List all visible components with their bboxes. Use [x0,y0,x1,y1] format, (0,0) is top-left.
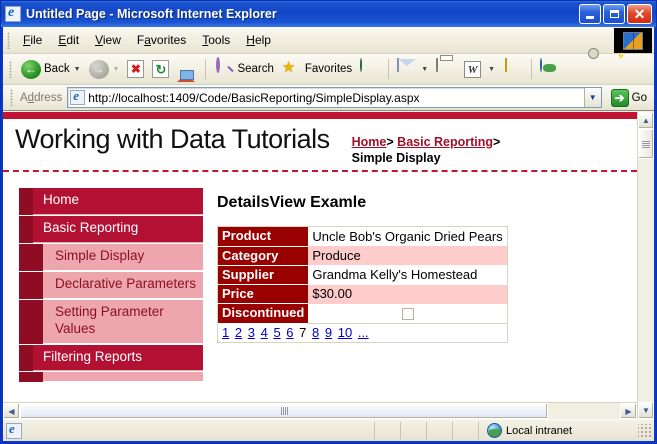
scroll-right-button[interactable]: ▶ [620,403,637,419]
edit-word-button[interactable]: W ▼ [460,57,499,82]
pager-link-2[interactable]: 2 [235,325,242,340]
nav-accent-strip [19,300,43,344]
address-input[interactable]: http://localhost:1409/Code/BasicReportin… [88,91,583,105]
row-value-price: $30.00 [308,285,507,304]
qr-button[interactable] [620,57,648,82]
address-label: Address [20,92,62,104]
toolbar-separator [205,59,206,79]
pager-link-4[interactable]: 4 [261,325,268,340]
close-button[interactable]: ✕ [627,4,652,24]
sidebar-item-label [43,372,203,382]
pager-link-8[interactable]: 8 [312,325,319,340]
table-row: Supplier Grandma Kelly's Homestead [218,265,508,284]
horizontal-scroll-track[interactable] [20,403,620,419]
sidebar-item-label: Filtering Reports [33,345,203,372]
address-dropdown-button[interactable]: ▼ [584,88,601,107]
row-value-supplier: Grandma Kelly's Homestead [308,265,507,284]
nav-accent-strip [19,216,33,243]
pager-link-6[interactable]: 6 [286,325,293,340]
globe-button[interactable] [536,57,564,82]
sidebar-item-label: Setting Parameter Values [43,300,203,344]
qr-icon [624,59,644,79]
table-row: Product Uncle Bob's Organic Dried Pears [218,227,508,246]
forward-dropdown-icon[interactable]: ▼ [113,66,120,73]
home-button[interactable] [173,57,201,82]
menu-file-label: ile [30,33,42,47]
row-label-product: Product [218,227,309,246]
security-zone-label: Local intranet [506,425,572,437]
status-pane-4 [452,422,478,440]
table-row: Discontinued [218,304,508,323]
sidebar-item-next-partial[interactable] [19,372,203,382]
breadcrumb: Home> Basic Reporting> Simple Display [352,135,501,166]
menu-help[interactable]: Help [238,30,279,50]
ie-page-icon [5,6,21,22]
breadcrumb-current: Simple Display [352,151,501,167]
back-button-label: Back [44,63,70,75]
forward-arrow-icon: → [89,60,109,79]
toolbar-separator-2 [388,59,389,79]
ie-page-icon-address [70,90,85,105]
breadcrumb-link-home[interactable]: Home [352,135,387,149]
favorites-star-icon: ★ [282,59,302,79]
stop-button[interactable]: ✖ [123,57,148,82]
nav-accent-strip [19,345,33,372]
toolbar-separator-3 [531,59,532,79]
address-bar: Address http://localhost:1409/Code/Basic… [3,85,654,111]
window-client-area: File Edit View Favorites Tools Help ← Ba… [1,27,656,443]
go-arrow-icon: ➔ [611,89,629,107]
windows-flag-icon [623,32,643,50]
status-pane-3 [426,422,452,440]
pager-current-page: 7 [299,325,306,340]
menu-bar: File Edit View Favorites Tools Help [3,27,654,54]
print-icon [436,59,456,79]
forward-button[interactable]: → ▼ [85,57,124,82]
row-label-supplier: Supplier [218,265,309,284]
pager-link-more[interactable]: ... [358,325,369,340]
browser-toolbar: ← Back ▼ → ▼ ✖ ↻ Search ★ [3,54,654,85]
home-icon [177,59,197,79]
media-icon [360,59,380,79]
minimize-button[interactable] [579,4,601,24]
menu-edit[interactable]: Edit [50,30,87,50]
menu-gripper[interactable] [7,32,10,49]
maximize-button[interactable] [603,4,625,24]
scroll-down-button[interactable]: ▼ [638,402,654,419]
pager-link-3[interactable]: 3 [248,325,255,340]
breadcrumb-separator-1: > [386,135,393,149]
sidebar-item-label: Basic Reporting [33,216,203,243]
sidebar-nav: Home Basic Reporting Simple Display [3,188,203,383]
table-row: Category Produce [218,246,508,265]
row-value-discontinued [308,304,507,323]
stop-icon: ✖ [127,60,144,78]
scroll-up-button[interactable]: ▲ [638,112,654,129]
refresh-button[interactable]: ↻ [148,57,173,82]
table-row: Price $30.00 [218,285,508,304]
mail-icon [397,59,417,79]
globe-icon [487,423,502,438]
edit-word-icon: W [464,59,484,79]
sidebar-item-filtering-reports[interactable]: Filtering Reports [19,345,203,372]
page-viewport: Working with Data Tutorials Home> Basic … [3,111,654,419]
sidebar-item-declarative-parameters[interactable]: Declarative Parameters [19,272,203,299]
scroll-grip-icon [281,407,288,415]
pager-cell: 1 2 3 4 5 6 7 8 9 [218,323,508,342]
content-heading: DetailsView Examle [217,194,627,212]
notes-button[interactable] [499,57,527,82]
status-pane-2 [400,422,426,440]
web-page: Working with Data Tutorials Home> Basic … [3,112,637,419]
scroll-left-button[interactable]: ◀ [3,403,20,419]
pager-link-1[interactable]: 1 [222,325,229,340]
nav-accent-strip [19,272,43,299]
media-button[interactable] [356,57,384,82]
toolbar-gripper[interactable] [9,61,12,78]
vertical-scrollbar[interactable]: ▲ ▼ [637,112,654,419]
search-button-label: Search [237,63,273,75]
close-icon: ✕ [634,8,646,20]
window-controls: ✕ [579,4,652,24]
ie-page-icon-status [6,423,22,439]
scroll-grip-icon [642,141,650,148]
nav-accent-strip [19,188,33,215]
nav-accent-strip [19,372,43,382]
menu-favorites[interactable]: Favorites [129,30,194,50]
status-bar: Local intranet [3,419,654,441]
vertical-scroll-thumb[interactable] [638,129,654,159]
window-title: Untitled Page - Microsoft Internet Explo… [26,7,579,21]
vertical-scroll-track[interactable] [638,129,654,402]
horizontal-scroll-thumb[interactable] [20,403,548,419]
security-zone[interactable]: Local intranet [478,422,638,440]
breadcrumb-link-basic-reporting[interactable]: Basic Reporting [397,135,493,149]
search-button[interactable]: Search [210,57,277,82]
address-gripper[interactable] [10,89,13,106]
favorites-button-label: Favorites [305,63,352,75]
mail-button[interactable]: ▼ [393,57,432,82]
pager-link-5[interactable]: 5 [273,325,280,340]
maximize-icon [610,10,619,18]
refresh-icon: ↻ [152,60,169,78]
firefox-icon [568,59,588,79]
sidebar-item-label: Declarative Parameters [43,272,203,299]
pager-link-10[interactable]: 10 [338,325,352,340]
address-input-wrapper[interactable]: http://localhost:1409/Code/BasicReportin… [67,87,601,108]
status-pane-1 [374,422,400,440]
firefox-button[interactable] [564,57,592,82]
page-title: Working with Data Tutorials [15,125,330,153]
main-content: DetailsView Examle Product Uncle Bob's O… [203,188,637,383]
nav-accent-strip [19,244,43,271]
sidebar-item-basic-reporting[interactable]: Basic Reporting [19,216,203,243]
menu-tools[interactable]: Tools [194,30,238,50]
minimize-icon [586,16,594,19]
table-pager-row: 1 2 3 4 5 6 7 8 9 [218,323,508,342]
row-value-category: Produce [308,246,507,265]
search-icon [214,59,234,79]
go-button[interactable]: ➔ Go [607,88,651,108]
favorites-button[interactable]: ★ Favorites [278,57,356,82]
page-top-accent-bar [3,112,637,119]
sidebar-item-label: Home [33,188,203,215]
go-button-label: Go [632,92,647,104]
notes-icon [503,59,523,79]
row-label-discontinued: Discontinued [218,304,309,323]
ie-brand-logo [614,28,652,53]
horizontal-scrollbar[interactable]: ◀ ▶ [3,402,637,419]
sidebar-item-label: Simple Display [43,244,203,271]
breadcrumb-separator-2: > [493,135,500,149]
row-label-category: Category [218,246,309,265]
menu-file[interactable]: File [15,30,50,50]
page-body: Home Basic Reporting Simple Display [3,172,637,383]
row-label-price: Price [218,285,309,304]
details-view-table: Product Uncle Bob's Organic Dried Pears … [217,226,508,343]
title-bar: Untitled Page - Microsoft Internet Explo… [1,1,656,27]
globe-icon [540,59,560,79]
messenger-icon [596,59,616,79]
sidebar-item-simple-display[interactable]: Simple Display [19,244,203,271]
discontinued-checkbox [402,308,414,320]
back-arrow-icon: ← [21,60,41,79]
back-dropdown-icon[interactable]: ▼ [74,66,81,73]
resize-grip-icon[interactable] [638,424,652,438]
pager-link-9[interactable]: 9 [325,325,332,340]
messenger-button[interactable] [592,57,620,82]
menu-view[interactable]: View [87,30,129,50]
pager: 1 2 3 4 5 6 7 8 9 [222,325,371,340]
ie-browser-window: Untitled Page - Microsoft Internet Explo… [0,0,657,444]
back-button[interactable]: ← Back ▼ [17,57,85,82]
sidebar-item-setting-parameter-values[interactable]: Setting Parameter Values [19,300,203,344]
mail-dropdown-icon[interactable]: ▼ [421,66,428,73]
page-header: Working with Data Tutorials Home> Basic … [3,119,637,172]
sidebar-item-home[interactable]: Home [19,188,203,215]
row-value-product: Uncle Bob's Organic Dried Pears [308,227,507,246]
print-button[interactable] [432,57,460,82]
edit-dropdown-icon[interactable]: ▼ [488,66,495,73]
